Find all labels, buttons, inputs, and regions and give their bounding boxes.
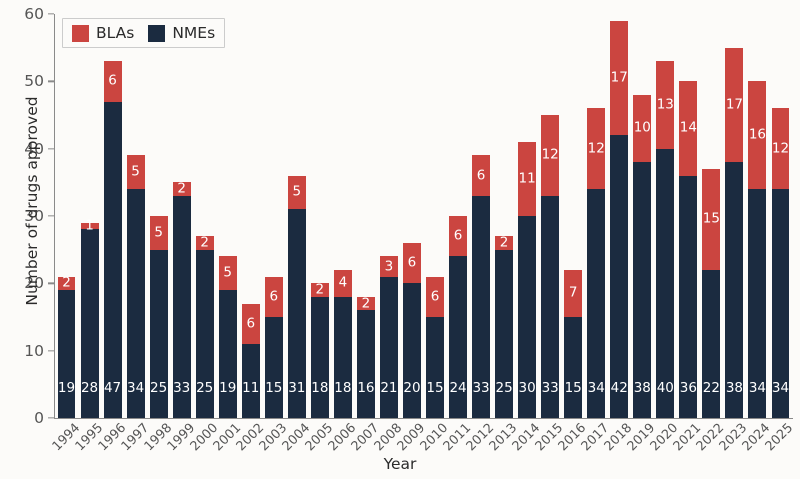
y-tick-mark (48, 148, 54, 149)
bar-group[interactable]: 213 (380, 256, 398, 418)
bar-segment-nme[interactable]: 33 (472, 196, 490, 418)
bar-segment-bla[interactable]: 6 (426, 277, 444, 317)
bar-segment-nme[interactable]: 38 (633, 162, 651, 418)
bar-value-label-bla: 14 (679, 122, 697, 136)
bar-value-label-bla: 5 (127, 166, 145, 180)
bar-segment-nme[interactable]: 33 (173, 196, 191, 418)
bar-group[interactable]: 3412 (587, 108, 605, 418)
bar-segment-bla[interactable]: 5 (219, 256, 237, 290)
bar-value-label-nme: 40 (656, 382, 674, 396)
bar-group[interactable]: 4013 (656, 61, 674, 418)
bar-segment-nme[interactable]: 16 (357, 310, 375, 418)
bar-group[interactable]: 182 (311, 283, 329, 418)
bar-value-label-nme: 15 (426, 382, 444, 396)
bar-value-label-nme: 34 (772, 382, 790, 396)
bar-value-label-nme: 31 (288, 382, 306, 396)
bar-group[interactable]: 255 (150, 216, 168, 418)
bar-segment-nme[interactable]: 34 (772, 189, 790, 418)
bar-segment-nme[interactable]: 28 (81, 229, 99, 418)
bar-group[interactable]: 3011 (518, 142, 536, 418)
bar-segment-bla[interactable]: 5 (127, 155, 145, 189)
bar-value-label-bla: 10 (633, 122, 651, 136)
bar-value-label-bla: 6 (265, 290, 283, 304)
bar-segment-bla[interactable]: 1 (81, 223, 99, 230)
bar-segment-bla[interactable]: 6 (265, 277, 283, 317)
bar-value-label-bla: 2 (196, 236, 214, 250)
bar-group[interactable]: 156 (265, 277, 283, 418)
bar-segment-bla[interactable]: 7 (564, 270, 582, 317)
y-tick-mark (48, 350, 54, 351)
y-tick-label: 0 (0, 409, 44, 427)
bar-segment-bla[interactable]: 2 (495, 236, 513, 249)
bar-segment-nme[interactable]: 15 (426, 317, 444, 418)
bar-value-label-bla: 12 (587, 142, 605, 156)
bar-value-label-nme: 19 (58, 382, 76, 396)
bar-group[interactable]: 3312 (541, 115, 559, 418)
bar-value-label-nme: 33 (173, 382, 191, 396)
bar-value-label-nme: 11 (242, 382, 260, 396)
bar-segment-bla[interactable]: 6 (403, 243, 421, 283)
bar-segment-bla[interactable]: 16 (748, 81, 766, 189)
bar-segment-nme[interactable]: 30 (518, 216, 536, 418)
bar-segment-nme[interactable]: 15 (265, 317, 283, 418)
chart-legend: BLAsNMEs (62, 18, 225, 48)
bar-value-label-nme: 16 (357, 382, 375, 396)
bar-value-label-bla: 6 (472, 169, 490, 183)
bar-group[interactable]: 156 (426, 277, 444, 418)
bar-segment-nme[interactable]: 20 (403, 283, 421, 418)
bar-segment-nme[interactable]: 21 (380, 277, 398, 418)
bar-value-label-nme: 24 (449, 382, 467, 396)
bar-segment-bla[interactable]: 2 (58, 277, 76, 290)
legend-swatch-icon (72, 25, 89, 42)
bar-value-label-nme: 34 (748, 382, 766, 396)
bar-value-label-bla: 3 (380, 260, 398, 274)
bar-group[interactable]: 3416 (748, 81, 766, 418)
bar-value-label-nme: 25 (495, 382, 513, 396)
y-tick-mark (48, 417, 54, 418)
bar-value-label-bla: 16 (748, 128, 766, 142)
bar-value-label-bla: 17 (725, 98, 743, 112)
bar-group[interactable]: 3810 (633, 95, 651, 418)
bar-segment-bla[interactable]: 10 (633, 95, 651, 162)
bar-segment-nme[interactable]: 18 (334, 297, 352, 418)
bar-group[interactable]: 195 (219, 256, 237, 418)
bar-group[interactable]: 3614 (679, 81, 697, 418)
bar-value-label-nme: 34 (587, 382, 605, 396)
bar-group[interactable]: 192 (58, 277, 76, 418)
bar-value-label-bla: 2 (495, 236, 513, 250)
bar-value-label-nme: 18 (311, 382, 329, 396)
bar-group[interactable]: 3412 (772, 108, 790, 418)
legend-item[interactable]: BLAs (72, 24, 134, 42)
legend-item[interactable]: NMEs (148, 24, 215, 42)
bar-value-label-bla: 13 (656, 98, 674, 112)
bar-value-label-bla: 4 (334, 277, 352, 291)
bar-group[interactable]: 332 (173, 182, 191, 418)
bar-segment-bla[interactable]: 15 (702, 169, 720, 270)
bar-value-label-bla: 12 (772, 142, 790, 156)
bar-value-label-bla: 6 (426, 290, 444, 304)
bar-segment-nme[interactable]: 15 (564, 317, 582, 418)
bar-group[interactable]: 162 (357, 297, 375, 418)
legend-label: BLAs (96, 24, 134, 42)
bar-group[interactable]: 476 (104, 61, 122, 418)
bar-segment-bla[interactable]: 6 (104, 61, 122, 101)
bar-segment-nme[interactable]: 25 (150, 250, 168, 418)
x-axis-label: Year (0, 455, 800, 473)
bar-segment-bla[interactable]: 5 (288, 176, 306, 210)
bar-group[interactable]: 281 (81, 223, 99, 418)
bar-group[interactable]: 246 (449, 216, 467, 418)
y-tick-mark (48, 215, 54, 216)
bar-segment-bla[interactable]: 2 (173, 182, 191, 195)
bar-segment-bla[interactable]: 6 (449, 216, 467, 256)
bar-value-label-bla: 15 (702, 213, 720, 227)
bar-segment-nme[interactable]: 31 (288, 209, 306, 418)
y-tick-mark (48, 13, 54, 14)
bar-group[interactable]: 206 (403, 243, 421, 418)
bar-group[interactable]: 2215 (702, 169, 720, 418)
plot-area: 1922814763452553322521951161563151821841… (55, 14, 792, 418)
bar-segment-nme[interactable]: 19 (219, 290, 237, 418)
bar-segment-nme[interactable]: 40 (656, 149, 674, 418)
bar-value-label-nme: 30 (518, 382, 536, 396)
y-axis-label: Number of drugs approved (23, 1, 41, 401)
bar-value-label-bla: 5 (219, 267, 237, 281)
chart-figure: 0102030405060 Number of drugs approved Y… (0, 0, 800, 479)
bar-segment-nme[interactable]: 36 (679, 176, 697, 418)
bar-segment-nme[interactable]: 34 (127, 189, 145, 418)
bar-segment-bla[interactable]: 6 (472, 155, 490, 195)
bar-group[interactable]: 315 (288, 176, 306, 418)
bar-segment-nme[interactable]: 11 (242, 344, 260, 418)
bar-value-label-bla: 2 (311, 283, 329, 297)
bar-value-label-bla: 6 (104, 75, 122, 89)
bar-segment-bla[interactable]: 11 (518, 142, 536, 216)
bar-value-label-nme: 33 (472, 382, 490, 396)
bar-segment-bla[interactable]: 17 (725, 48, 743, 162)
bar-segment-nme[interactable]: 34 (748, 189, 766, 418)
bar-group[interactable]: 336 (472, 155, 490, 418)
bar-value-label-bla: 5 (288, 186, 306, 200)
bar-segment-nme[interactable]: 34 (587, 189, 605, 418)
bar-segment-nme[interactable]: 25 (196, 250, 214, 418)
bar-segment-bla[interactable]: 5 (150, 216, 168, 250)
bar-segment-bla[interactable]: 14 (679, 81, 697, 175)
bar-segment-bla[interactable]: 4 (334, 270, 352, 297)
legend-label: NMEs (172, 24, 215, 42)
y-tick-mark (48, 283, 54, 284)
bar-value-label-bla: 1 (81, 219, 99, 233)
bar-segment-nme[interactable]: 42 (610, 135, 628, 418)
bar-group[interactable]: 252 (196, 236, 214, 418)
bar-value-label-bla: 6 (403, 256, 421, 270)
bar-value-label-bla: 6 (449, 229, 467, 243)
bar-value-label-nme: 42 (610, 382, 628, 396)
bar-segment-bla[interactable]: 2 (196, 236, 214, 249)
bar-value-label-bla: 6 (242, 317, 260, 331)
bar-value-label-nme: 36 (679, 382, 697, 396)
bar-group[interactable]: 184 (334, 270, 352, 418)
bar-segment-bla[interactable]: 6 (242, 304, 260, 344)
bar-segment-bla[interactable]: 2 (311, 283, 329, 296)
bar-segment-bla[interactable]: 12 (587, 108, 605, 189)
bar-segment-bla[interactable]: 17 (610, 21, 628, 135)
bar-value-label-bla: 2 (173, 182, 191, 196)
bar-value-label-nme: 15 (265, 382, 283, 396)
bar-segment-bla[interactable]: 3 (380, 256, 398, 276)
bar-group[interactable]: 4217 (610, 21, 628, 418)
bar-group[interactable]: 157 (564, 270, 582, 418)
legend-swatch-icon (148, 25, 165, 42)
bar-value-label-nme: 47 (104, 382, 122, 396)
bar-value-label-bla: 12 (541, 149, 559, 163)
bar-value-label-nme: 25 (150, 382, 168, 396)
bar-segment-bla[interactable]: 12 (541, 115, 559, 196)
bar-segment-nme[interactable]: 19 (58, 290, 76, 418)
bar-value-label-nme: 20 (403, 382, 421, 396)
bar-segment-bla[interactable]: 2 (357, 297, 375, 310)
bar-segment-nme[interactable]: 38 (725, 162, 743, 418)
bar-value-label-nme: 38 (633, 382, 651, 396)
bar-value-label-nme: 33 (541, 382, 559, 396)
bar-value-label-nme: 28 (81, 382, 99, 396)
bar-value-label-bla: 17 (610, 71, 628, 85)
bar-value-label-nme: 34 (127, 382, 145, 396)
bar-value-label-nme: 18 (334, 382, 352, 396)
bar-segment-bla[interactable]: 13 (656, 61, 674, 149)
bar-value-label-bla: 7 (564, 287, 582, 301)
bar-segment-nme[interactable]: 25 (495, 250, 513, 418)
bar-group[interactable]: 3817 (725, 48, 743, 418)
bar-group[interactable]: 252 (495, 236, 513, 418)
bar-group[interactable]: 345 (127, 155, 145, 418)
bar-group[interactable]: 116 (242, 304, 260, 418)
bar-segment-nme[interactable]: 24 (449, 256, 467, 418)
bar-value-label-nme: 21 (380, 382, 398, 396)
y-tick-mark (48, 81, 54, 82)
bar-value-label-nme: 19 (219, 382, 237, 396)
bar-value-label-nme: 25 (196, 382, 214, 396)
bar-segment-bla[interactable]: 12 (772, 108, 790, 189)
bar-segment-nme[interactable]: 33 (541, 196, 559, 418)
bar-value-label-bla: 2 (357, 297, 375, 311)
x-axis-line (54, 418, 793, 419)
bar-value-label-bla: 5 (150, 226, 168, 240)
bar-value-label-nme: 15 (564, 382, 582, 396)
bar-segment-nme[interactable]: 22 (702, 270, 720, 418)
bar-value-label-nme: 38 (725, 382, 743, 396)
bar-value-label-bla: 2 (58, 277, 76, 291)
bar-value-label-nme: 22 (702, 382, 720, 396)
bar-segment-nme[interactable]: 18 (311, 297, 329, 418)
bar-segment-nme[interactable]: 47 (104, 102, 122, 418)
bar-value-label-bla: 11 (518, 172, 536, 186)
